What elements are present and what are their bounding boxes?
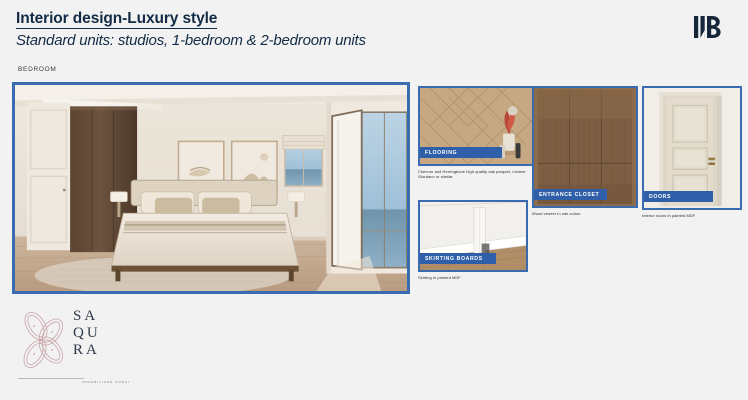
flooring-thumbnail: FLOORING (418, 86, 536, 166)
saqura-line-3: RA (73, 342, 101, 359)
slide-canvas: Interior design-Luxury style Standard un… (0, 0, 748, 400)
saqura-divider (18, 378, 84, 379)
material-card-skirting[interactable]: SKIRTING BOARDS Skirting in painted MDF (418, 200, 528, 280)
bedroom-render (12, 82, 410, 294)
doors-band-label: DOORS (644, 191, 713, 202)
saqura-tagline: IMMOBILIARE DUBAI (18, 380, 130, 384)
saqura-line-2: QU (73, 325, 101, 342)
saqura-flower-icon (18, 306, 70, 378)
slide-header: Interior design-Luxury style Standard un… (16, 10, 576, 50)
saqura-logo: SA QU RA IMMOBILIARE DUBAI (18, 306, 133, 392)
flooring-caption: Chevron and Herringbone high quality oak… (418, 169, 536, 180)
material-card-entrance-closet[interactable]: ENTRANCE CLOSET Wood veneer in oak colou… (532, 86, 638, 216)
flooring-band-label: FLOORING (420, 147, 502, 158)
page-title: Interior design-Luxury style (16, 10, 217, 29)
material-card-doors[interactable]: DOORS Interior doors in painted MDF (642, 86, 742, 218)
doors-thumbnail: DOORS (642, 86, 742, 210)
doors-image (644, 88, 740, 208)
saqura-wordmark: SA QU RA (73, 308, 101, 359)
bedroom-render-image (15, 85, 407, 291)
doors-caption: Interior doors in painted MDF (642, 213, 742, 218)
saqura-line-1: SA (73, 308, 101, 325)
closet-band-label: ENTRANCE CLOSET (534, 189, 607, 200)
closet-caption: Wood veneer in oak colour (532, 211, 638, 216)
ib-monogram-icon (686, 10, 730, 44)
material-card-flooring[interactable]: FLOORING Chevron and Herringbone high qu… (418, 86, 536, 180)
brand-logo (686, 10, 730, 44)
skirting-caption: Skirting in painted MDF (418, 275, 528, 280)
page-subtitle: Standard units: studios, 1-bedroom & 2-b… (16, 32, 576, 50)
skirting-thumbnail: SKIRTING BOARDS (418, 200, 528, 272)
closet-thumbnail: ENTRANCE CLOSET (532, 86, 638, 208)
skirting-band-label: SKIRTING BOARDS (420, 253, 496, 264)
section-label-bedroom: BEDROOM (18, 66, 57, 73)
